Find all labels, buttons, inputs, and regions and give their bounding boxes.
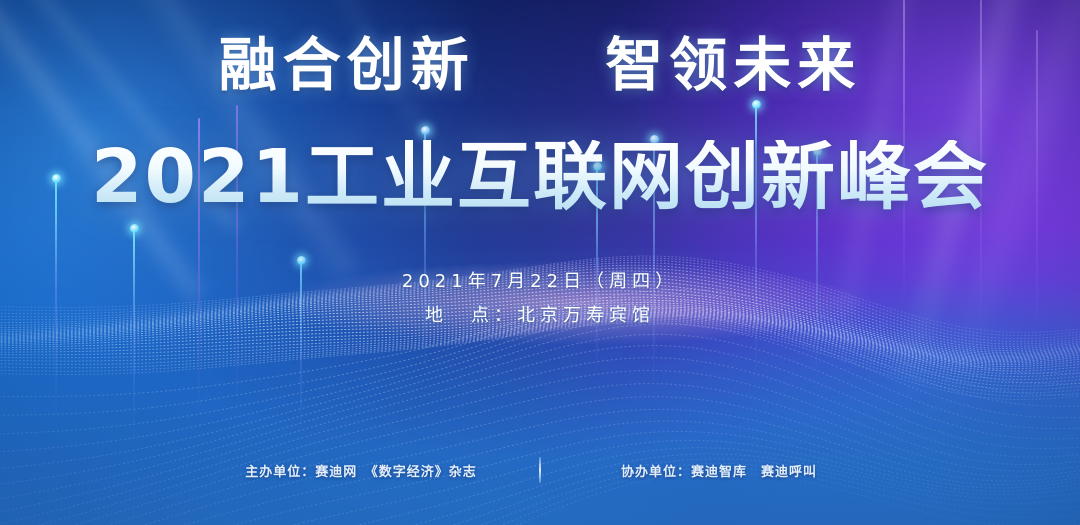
- wave-contour: [0, 371, 1080, 525]
- event-location-value: 北京万寿宾馆: [517, 305, 655, 326]
- footer-divider: [539, 457, 541, 483]
- tagline-left: 融合创新: [219, 31, 475, 99]
- main-title: 2021工业互联网创新峰会: [0, 140, 1080, 214]
- tagline-right: 智领未来: [605, 31, 861, 99]
- wave-contour: [0, 358, 1080, 525]
- footer-organizer: 主办单位：赛迪网 《数字经济》杂志: [211, 461, 511, 480]
- tagline: 融合创新 智领未来: [0, 36, 1080, 94]
- conference-poster: 融合创新 智领未来 2021工业互联网创新峰会 2021年7月22日（周四） 地…: [0, 0, 1080, 525]
- footer: 主办单位：赛迪网 《数字经济》杂志 协办单位：赛迪智库 赛迪呼叫: [0, 457, 1080, 483]
- event-date: 2021年7月22日（周四）: [0, 267, 1080, 293]
- event-location-label: 地 点：: [425, 305, 517, 326]
- footer-co-organizer: 协办单位：赛迪智库 赛迪呼叫: [569, 461, 869, 480]
- event-location: 地 点：北京万寿宾馆: [0, 301, 1080, 327]
- light-pin-head: [752, 100, 761, 109]
